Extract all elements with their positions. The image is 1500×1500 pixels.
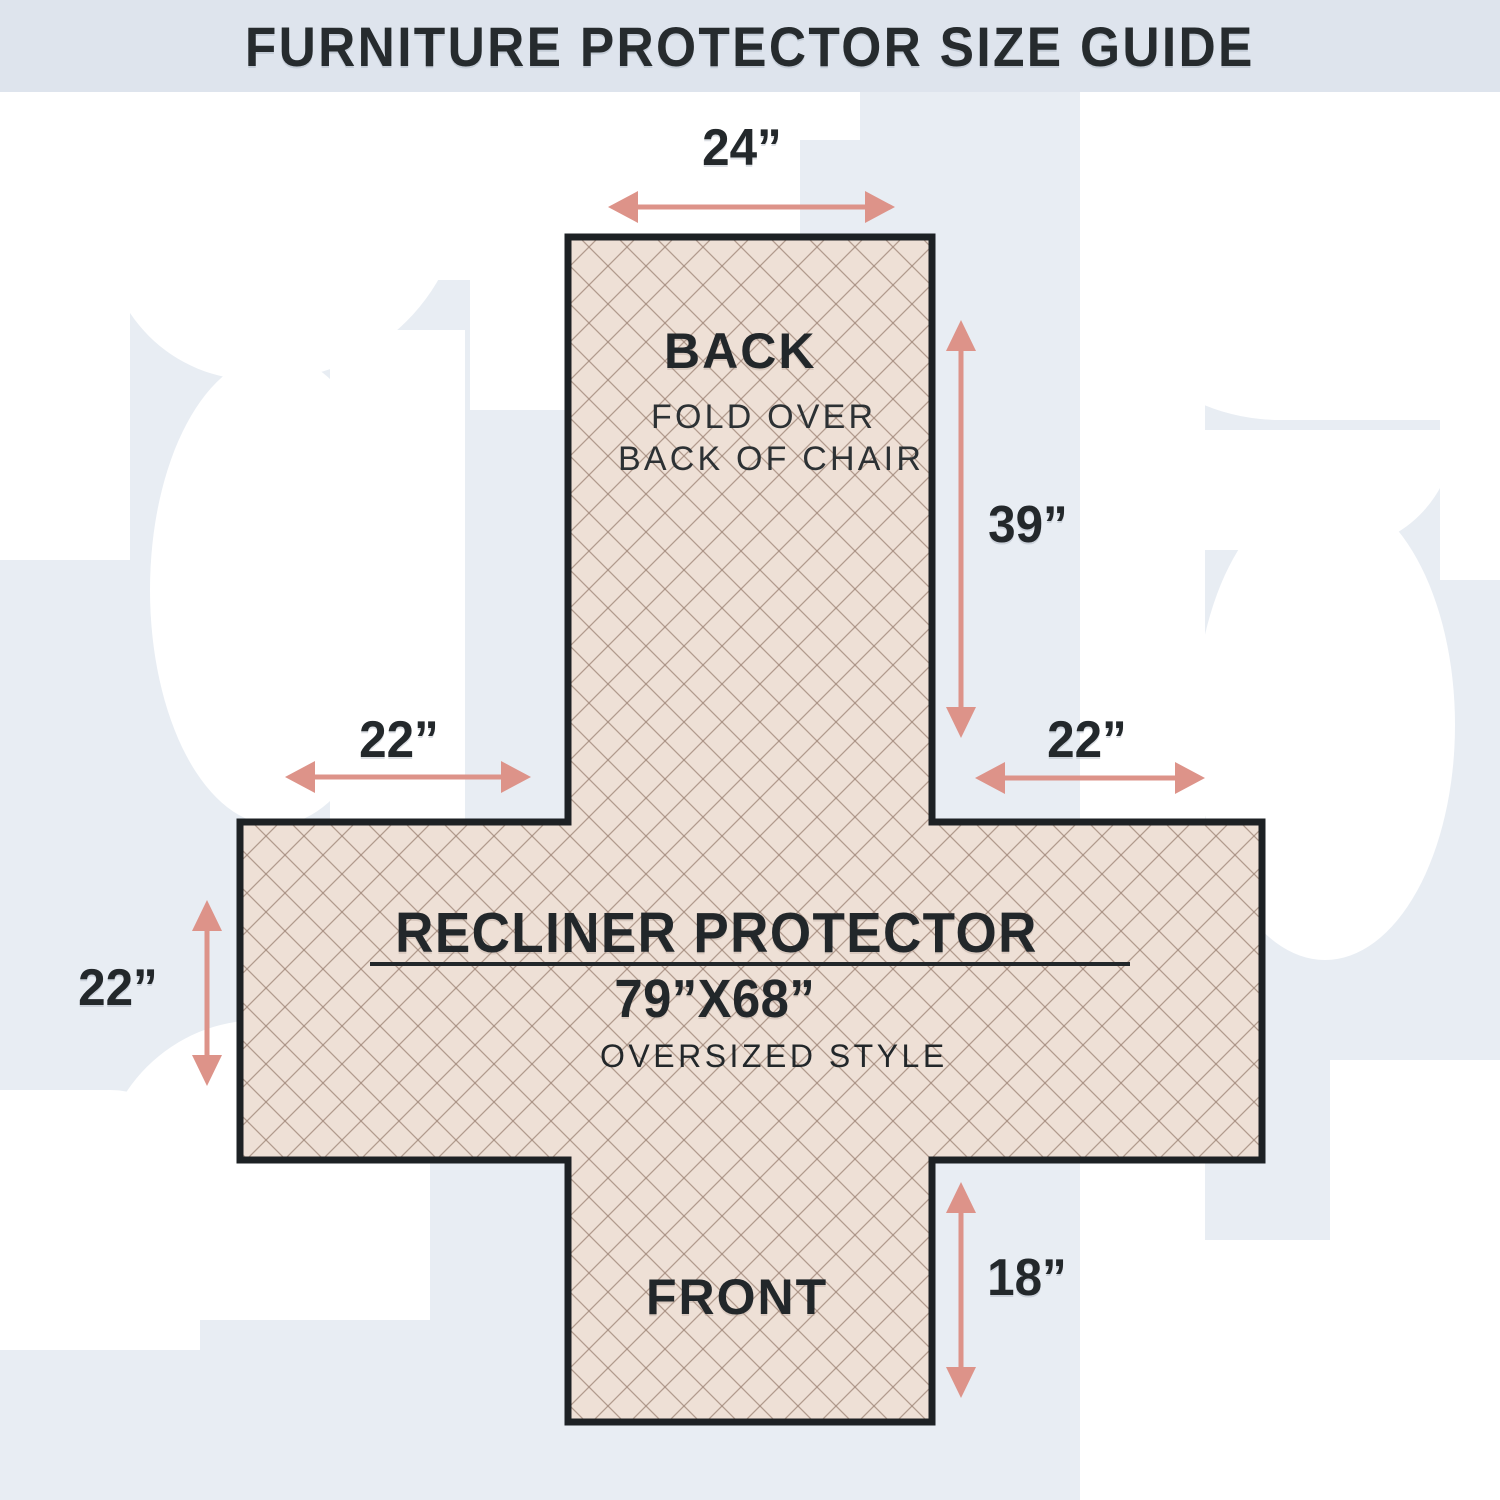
dimension-label-front-height: 18” (987, 1248, 1067, 1308)
center-panel-size: 79”X68” (614, 968, 815, 1030)
center-panel-style: OVERSIZED STYLE (600, 1038, 948, 1075)
back-panel-subtitle-line1: FOLD OVER (651, 398, 876, 437)
page-title-band: FURNITURE PROTECTOR SIZE GUIDE (0, 0, 1500, 92)
dimension-label-left-arm: 22” (359, 710, 439, 770)
page-title: FURNITURE PROTECTOR SIZE GUIDE (245, 14, 1255, 79)
back-panel-subtitle-line2: BACK OF CHAIR (618, 440, 924, 479)
back-panel-label: BACK (664, 322, 816, 380)
dimension-label-arm-depth: 22” (78, 958, 158, 1018)
center-panel-divider (370, 962, 1130, 966)
front-panel-label: FRONT (646, 1268, 828, 1326)
size-guide-canvas: FURNITURE PROTECTOR SIZE GUIDE 24” 39” 2… (0, 0, 1500, 1500)
dimension-label-back-height: 39” (988, 495, 1068, 555)
dimension-label-right-arm: 22” (1047, 710, 1127, 770)
dimension-label-back-width: 24” (702, 118, 782, 178)
center-panel-title: RECLINER PROTECTOR (395, 900, 1038, 966)
